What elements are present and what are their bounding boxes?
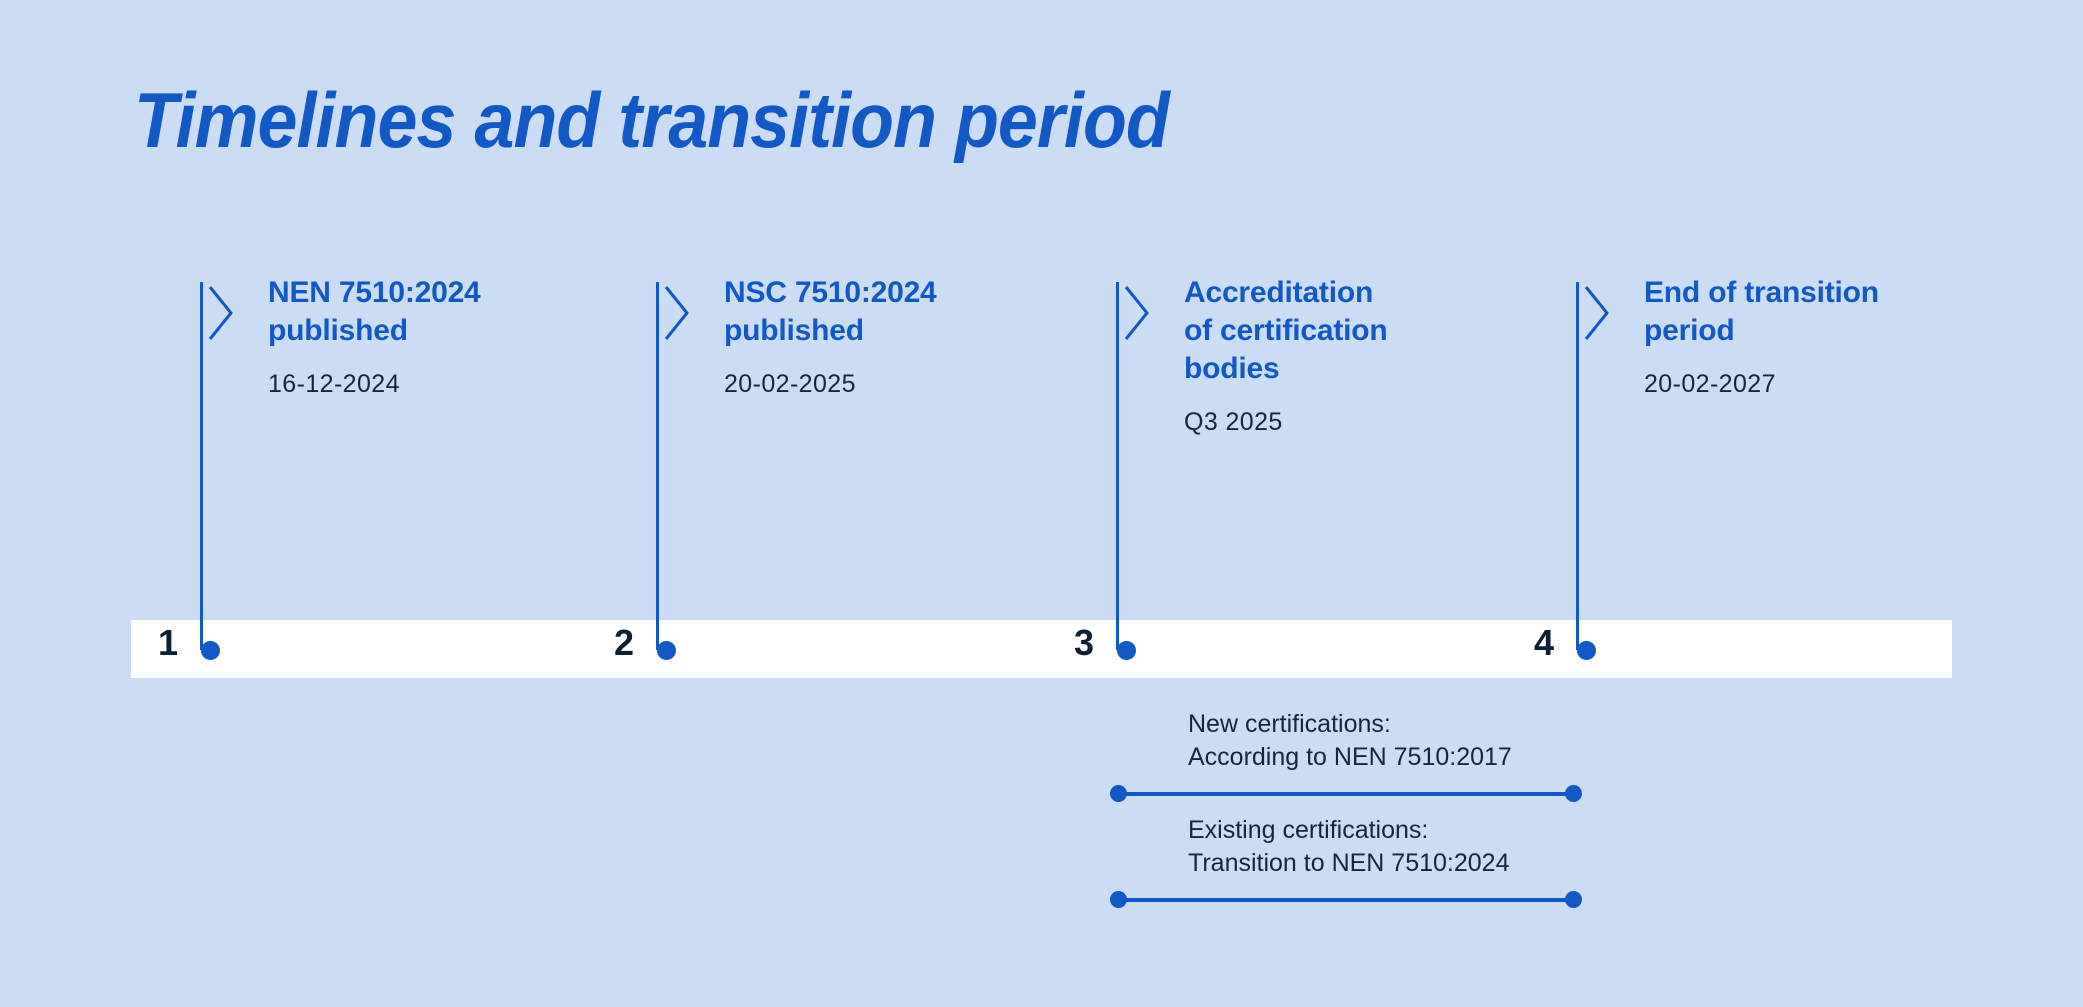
milestone-text-block: NSC 7510:2024 published 20-02-2025: [724, 274, 1054, 400]
infographic-canvas: Timelines and transition period NEN 7510…: [0, 0, 2083, 1007]
range-end-dot: [1565, 785, 1582, 802]
milestone-text-block: Accreditation of certification bodies Q3…: [1184, 274, 1514, 438]
range-line: [1116, 898, 1576, 902]
range-start-dot: [1110, 785, 1127, 802]
milestone-title: Accreditation of certification bodies: [1184, 274, 1514, 388]
milestone-title: NEN 7510:2024 published: [268, 274, 598, 350]
chevron-right-icon: [1124, 285, 1150, 341]
milestone-title: NSC 7510:2024 published: [724, 274, 1054, 350]
milestone-title: End of transition period: [1644, 274, 1974, 350]
milestone-number: 4: [1534, 624, 1554, 662]
range-end-dot: [1565, 891, 1582, 908]
range-new-certifications: New certifications: According to NEN 751…: [1116, 700, 1576, 796]
milestone-stem: [656, 282, 659, 650]
range-existing-certifications: Existing certifications: Transition to N…: [1116, 806, 1576, 902]
milestone-text-block: NEN 7510:2024 published 16-12-2024: [268, 274, 598, 400]
milestone-stem: [1576, 282, 1579, 650]
milestone-stem: [1116, 282, 1119, 650]
range-line: [1116, 792, 1576, 796]
milestone-number: 1: [158, 624, 178, 662]
milestone-date: 16-12-2024: [268, 368, 598, 400]
milestone-dot: [201, 641, 220, 660]
milestone-dot: [657, 641, 676, 660]
page-title: Timelines and transition period: [134, 72, 1169, 168]
range-label: Existing certifications: Transition to N…: [1188, 814, 1608, 880]
milestone-number: 2: [614, 624, 634, 662]
chevron-right-icon: [208, 285, 234, 341]
timeline-bar: [131, 620, 1952, 678]
range-start-dot: [1110, 891, 1127, 908]
milestone-stem: [200, 282, 203, 650]
milestone-number: 3: [1074, 624, 1094, 662]
milestone-dot: [1577, 641, 1596, 660]
chevron-right-icon: [1584, 285, 1610, 341]
chevron-right-icon: [664, 285, 690, 341]
milestone-date: 20-02-2027: [1644, 368, 1974, 400]
milestone-date: 20-02-2025: [724, 368, 1054, 400]
range-label: New certifications: According to NEN 751…: [1188, 708, 1608, 774]
milestone-text-block: End of transition period 20-02-2027: [1644, 274, 1974, 400]
milestone-dot: [1117, 641, 1136, 660]
milestone-date: Q3 2025: [1184, 406, 1514, 438]
